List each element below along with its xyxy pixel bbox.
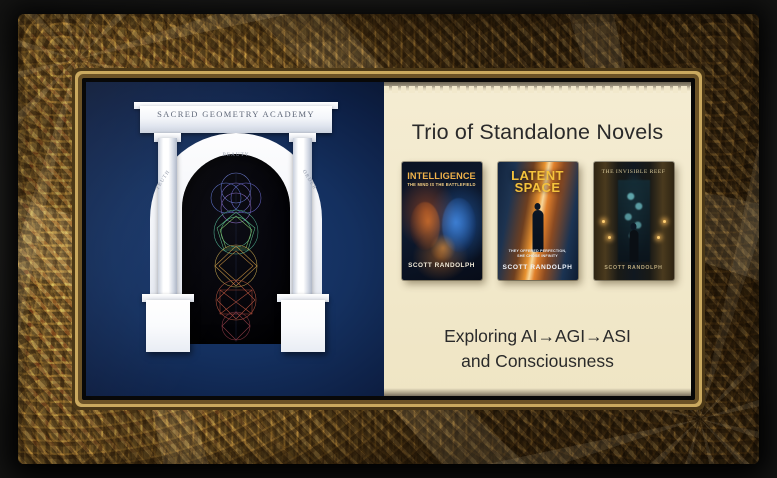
artwork-canvas: SACRED GEOMETRY ACADEMY (86, 82, 691, 396)
lamp-light-icon (602, 220, 605, 223)
column-right (293, 138, 312, 308)
book-cover-latent-space[interactable]: LATENT SPACE THEY OFFERED PERFECTION, SH… (498, 162, 578, 280)
book-title: INTELLIGENCE (402, 171, 482, 181)
book-title-line2: SPACE (515, 180, 561, 195)
arch-motto-beauty: BEAUTY (202, 152, 270, 158)
tagline: Exploring AI→AGI→ASI and Consciousness (384, 324, 691, 374)
book-cover-row: INTELLIGENCE THE MIND IS THE BATTLEFIELD… (396, 162, 679, 280)
book-author: SCOTT RANDOLPH (594, 265, 674, 271)
sacred-geometry-pattern (182, 154, 290, 344)
column-left (158, 138, 177, 308)
energy-glow (430, 234, 456, 262)
page-title: Trio of Standalone Novels (384, 120, 691, 145)
academy-name-label: SACRED GEOMETRY ACADEMY (140, 109, 332, 119)
book-title: THE INVISIBLE REEF (594, 169, 674, 175)
book-subtitle: THEY OFFERED PERFECTION, SHE CHOSE INFIN… (498, 249, 578, 259)
archway-illustration: SACRED GEOMETRY ACADEMY (86, 82, 384, 396)
book-subtitle: THE MIND IS THE BATTLEFIELD (402, 182, 482, 187)
book-subtitle-line2: SHE CHOSE INFINITY (517, 254, 558, 258)
right-text-panel: Trio of Standalone Novels INTELLIGENCE T… (384, 82, 691, 396)
torn-paper-edge-bottom (384, 388, 691, 396)
tagline-line2: and Consciousness (461, 351, 614, 371)
book-author: SCOTT RANDOLPH (402, 262, 482, 269)
figure-silhouette (629, 230, 638, 262)
lamp-light-icon (663, 220, 666, 223)
left-archway-panel: SACRED GEOMETRY ACADEMY (86, 82, 384, 396)
plinth-left (146, 300, 190, 352)
screenshot-stage: SACRED GEOMETRY ACADEMY (0, 0, 777, 478)
lamp-light-icon (608, 236, 611, 239)
book-subtitle-line1: THEY OFFERED PERFECTION, (509, 249, 567, 253)
lamp-light-icon (657, 236, 660, 239)
book-author: SCOTT RANDOLPH (498, 264, 578, 271)
arch-opening (182, 154, 290, 344)
book-cover-invisible-reef[interactable]: THE INVISIBLE REEF SCOTT RANDOLPH (594, 162, 674, 280)
plinth-right (281, 300, 325, 352)
figure-silhouette (532, 210, 543, 252)
book-title: LATENT SPACE (498, 170, 578, 194)
tagline-line1: Exploring AI→AGI→ASI (444, 326, 631, 346)
torn-paper-edge-top (384, 82, 691, 91)
book-cover-intelligence[interactable]: INTELLIGENCE THE MIND IS THE BATTLEFIELD… (402, 162, 482, 280)
